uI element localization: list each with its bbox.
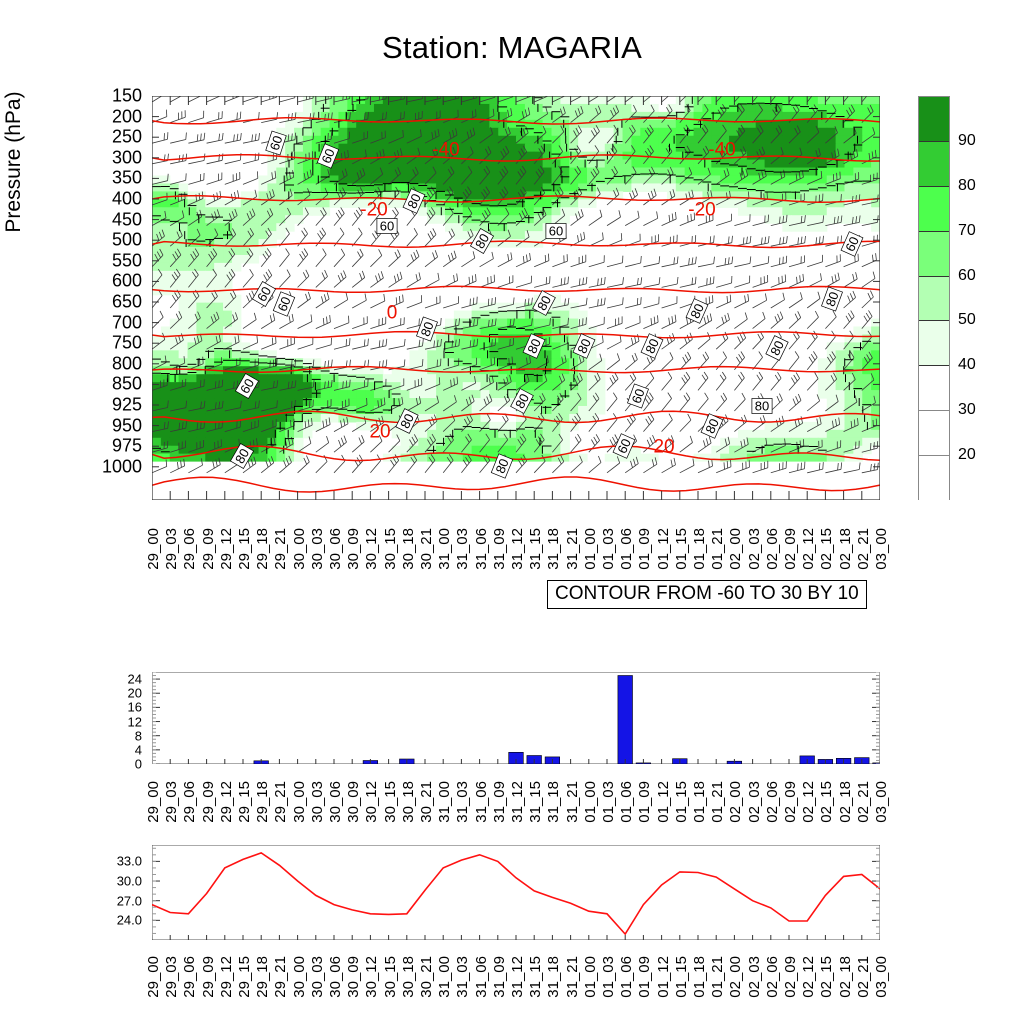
rain-xtick: 29_09 — [200, 781, 217, 823]
main-xtick: 30_06 — [327, 528, 344, 570]
main-yaxis-ticks: 1502002503003504004505005506006507007508… — [78, 96, 142, 500]
main-ytick: 500 — [80, 230, 142, 251]
main-xtick: 01_18 — [691, 528, 708, 570]
rain-yaxis-ticks: 04812162024 — [100, 672, 142, 764]
rain-xtick: 02_06 — [764, 781, 781, 823]
temp-xtick: 29_00 — [145, 956, 162, 998]
temp-xtick: 31_03 — [454, 956, 471, 998]
main-ytick: 200 — [80, 106, 142, 127]
rain-xtick: 29_03 — [163, 781, 180, 823]
rain-xtick: 03_00 — [873, 781, 890, 823]
main-xtick: 02_12 — [800, 528, 817, 570]
temp-xtick: 02_12 — [800, 956, 817, 998]
colorbar-band — [919, 142, 949, 187]
rain-xtick: 02_00 — [727, 781, 744, 823]
main-ytick: 700 — [80, 312, 142, 333]
temp-xtick: 02_15 — [818, 956, 835, 998]
colorbar-band — [919, 321, 949, 366]
temp-yaxis-ticks: 24.027.030.033.0 — [92, 845, 142, 940]
rain-xtick: 01_15 — [673, 781, 690, 823]
main-xtick: 29_00 — [145, 528, 162, 570]
main-ytick: 550 — [80, 250, 142, 271]
colorbar-tick-label: 70 — [958, 222, 976, 240]
main-xtick: 01_06 — [618, 528, 635, 570]
temp-xtick: 02_18 — [837, 956, 854, 998]
main-xtick: 30_03 — [309, 528, 326, 570]
main-xtick: 02_18 — [837, 528, 854, 570]
main-ytick: 400 — [80, 189, 142, 210]
temp-xtick: 02_03 — [746, 956, 763, 998]
page-title: Station: MAGARIA — [0, 30, 1024, 66]
contour-plot[interactable]: -40-40-20-200020206080606060808060808080… — [152, 96, 880, 500]
rain-xtick: 30_12 — [363, 781, 380, 823]
main-ytick: 950 — [80, 415, 142, 436]
temp-xtick: 02_21 — [855, 956, 872, 998]
main-xtick: 01_21 — [709, 528, 726, 570]
temp-ytick: 33.0 — [94, 854, 142, 869]
rain-xtick: 31_18 — [545, 781, 562, 823]
rain-xtick: 30_00 — [291, 781, 308, 823]
temp-xtick: 31_06 — [473, 956, 490, 998]
main-xtick: 30_00 — [291, 528, 308, 570]
rain-xtick: 30_03 — [309, 781, 326, 823]
rain-xtick: 31_03 — [454, 781, 471, 823]
colorbar-band — [919, 277, 949, 322]
temp-xtick: 02_06 — [764, 956, 781, 998]
temp-xtick: 29_18 — [254, 956, 271, 998]
colorbar-tick-label: 80 — [958, 177, 976, 195]
rain-xtick: 01_21 — [709, 781, 726, 823]
rain-xaxis-ticks: 29_0029_0329_0629_0929_1229_1529_1829_21… — [152, 775, 880, 837]
rain-xtick: 02_09 — [782, 781, 799, 823]
rain-xtick: 01_00 — [582, 781, 599, 823]
colorbar-band — [919, 456, 949, 501]
temp-xtick: 01_06 — [618, 956, 635, 998]
main-xtick: 29_06 — [181, 528, 198, 570]
rain-xtick: 02_18 — [837, 781, 854, 823]
contour-plot-svg: -40-40-20-200020206080606060808060808080… — [152, 96, 880, 500]
main-ytick: 850 — [80, 374, 142, 395]
colorbar-tick-label: 90 — [958, 132, 976, 150]
main-ytick: 975 — [80, 436, 142, 457]
rain-xtick: 02_03 — [746, 781, 763, 823]
main-xtick: 31_18 — [545, 528, 562, 570]
rain-xtick: 01_03 — [600, 781, 617, 823]
colorbar-band — [919, 187, 949, 232]
main-xtick: 30_18 — [400, 528, 417, 570]
main-xtick: 01_03 — [600, 528, 617, 570]
rain-xtick: 30_21 — [418, 781, 435, 823]
colorbar-band — [919, 97, 949, 142]
rain-ytick: 16 — [102, 700, 142, 715]
rain-xtick: 29_00 — [145, 781, 162, 823]
temp-xtick: 01_03 — [600, 956, 617, 998]
temp-xtick: 01_09 — [636, 956, 653, 998]
rain-xtick: 02_21 — [855, 781, 872, 823]
rain-ytick: 24 — [102, 672, 142, 687]
rain-xtick: 29_21 — [272, 781, 289, 823]
temp-xtick: 30_06 — [327, 956, 344, 998]
rain-xtick: 01_12 — [655, 781, 672, 823]
rain-ytick: 8 — [102, 728, 142, 743]
temp-ytick: 30.0 — [94, 874, 142, 889]
temp-xtick: 30_15 — [382, 956, 399, 998]
main-ytick: 750 — [80, 333, 142, 354]
rain-xtick: 29_15 — [236, 781, 253, 823]
colorbar-band — [919, 411, 949, 456]
temp-xtick: 29_21 — [272, 956, 289, 998]
colorbar[interactable] — [918, 96, 950, 500]
main-xtick: 30_12 — [363, 528, 380, 570]
colorbar-tick-label: 40 — [958, 356, 976, 374]
temp-xtick: 31_15 — [527, 956, 544, 998]
temp-xtick: 01_00 — [582, 956, 599, 998]
temp-xtick: 29_12 — [218, 956, 235, 998]
temp-xaxis-ticks: 29_0029_0329_0629_0929_1229_1529_1829_21… — [152, 950, 880, 1012]
temp-ytick: 27.0 — [94, 893, 142, 908]
main-xtick: 31_03 — [454, 528, 471, 570]
colorbar-tick-label: 30 — [958, 401, 976, 419]
main-xtick: 29_12 — [218, 528, 235, 570]
main-ytick: 350 — [80, 168, 142, 189]
temp-xtick: 03_00 — [873, 956, 890, 998]
temp-xtick: 30_00 — [291, 956, 308, 998]
main-xtick: 02_00 — [727, 528, 744, 570]
main-xtick: 29_21 — [272, 528, 289, 570]
rain-xtick: 29_12 — [218, 781, 235, 823]
rain-ytick: 20 — [102, 686, 142, 701]
main-ytick: 650 — [80, 292, 142, 313]
temp-xtick: 31_00 — [436, 956, 453, 998]
rain-plot[interactable] — [152, 672, 880, 764]
temp-xtick: 01_15 — [673, 956, 690, 998]
main-xtick: 01_15 — [673, 528, 690, 570]
main-xtick: 02_21 — [855, 528, 872, 570]
main-xtick: 30_15 — [382, 528, 399, 570]
temp-xtick: 01_18 — [691, 956, 708, 998]
temp-xtick: 29_06 — [181, 956, 198, 998]
temp-xtick: 01_21 — [709, 956, 726, 998]
temp-xtick: 31_21 — [564, 956, 581, 998]
main-xaxis-ticks: 29_0029_0329_0629_0929_1229_1529_1829_21… — [152, 522, 880, 584]
main-xtick: 29_09 — [200, 528, 217, 570]
temp-plot[interactable] — [152, 845, 880, 940]
temp-ytick: 24.0 — [94, 913, 142, 928]
main-xtick: 01_00 — [582, 528, 599, 570]
main-xtick: 01_12 — [655, 528, 672, 570]
main-xtick: 31_21 — [564, 528, 581, 570]
main-ytick: 250 — [80, 127, 142, 148]
main-ytick: 925 — [80, 395, 142, 416]
temp-xtick: 30_12 — [363, 956, 380, 998]
temp-xtick: 01_12 — [655, 956, 672, 998]
temp-xtick: 30_09 — [345, 956, 362, 998]
main-xtick: 29_03 — [163, 528, 180, 570]
main-ytick: 150 — [80, 86, 142, 107]
rain-xtick: 02_15 — [818, 781, 835, 823]
main-yaxis-label: Pressure (hPa) — [2, 52, 26, 272]
rain-xtick: 01_06 — [618, 781, 635, 823]
main-xtick: 31_15 — [527, 528, 544, 570]
main-ytick: 450 — [80, 209, 142, 230]
rain-xtick: 31_12 — [509, 781, 526, 823]
colorbar-tick-label: 20 — [958, 446, 976, 464]
rain-xtick: 30_18 — [400, 781, 417, 823]
temp-xtick: 30_18 — [400, 956, 417, 998]
main-xtick: 30_09 — [345, 528, 362, 570]
main-ytick: 1000 — [80, 456, 142, 477]
main-xtick: 31_12 — [509, 528, 526, 570]
rain-xtick: 30_15 — [382, 781, 399, 823]
temp-xtick: 29_09 — [200, 956, 217, 998]
rain-plot-svg — [152, 672, 880, 764]
temp-xtick: 30_21 — [418, 956, 435, 998]
colorbar-band — [919, 232, 949, 277]
rain-xtick: 29_06 — [181, 781, 198, 823]
main-xtick: 31_06 — [473, 528, 490, 570]
rain-xtick: 31_15 — [527, 781, 544, 823]
main-xtick: 02_15 — [818, 528, 835, 570]
rain-xtick: 29_18 — [254, 781, 271, 823]
main-xtick: 29_18 — [254, 528, 271, 570]
rain-xtick: 31_21 — [564, 781, 581, 823]
temp-xtick: 02_09 — [782, 956, 799, 998]
temp-xtick: 31_18 — [545, 956, 562, 998]
rain-xtick: 01_09 — [636, 781, 653, 823]
main-xtick: 02_06 — [764, 528, 781, 570]
main-xtick: 01_09 — [636, 528, 653, 570]
rain-xtick: 01_18 — [691, 781, 708, 823]
main-xtick: 02_09 — [782, 528, 799, 570]
main-xtick: 29_15 — [236, 528, 253, 570]
temp-xtick: 29_03 — [163, 956, 180, 998]
temp-xtick: 29_15 — [236, 956, 253, 998]
temp-xtick: 30_03 — [309, 956, 326, 998]
main-xtick: 31_09 — [491, 528, 508, 570]
rain-xtick: 31_06 — [473, 781, 490, 823]
rain-ytick: 12 — [102, 714, 142, 729]
main-ytick: 800 — [80, 353, 142, 374]
main-xtick: 31_00 — [436, 528, 453, 570]
rain-xtick: 31_00 — [436, 781, 453, 823]
contour-note: CONTOUR FROM -60 TO 30 BY 10 — [547, 580, 867, 609]
main-xtick: 03_00 — [873, 528, 890, 570]
main-xtick: 30_21 — [418, 528, 435, 570]
colorbar-tick-label: 60 — [958, 267, 976, 285]
temp-plot-svg — [152, 845, 880, 940]
colorbar-tick-label: 50 — [958, 311, 976, 329]
rain-xtick: 31_09 — [491, 781, 508, 823]
main-ytick: 300 — [80, 147, 142, 168]
meteogram-page: Station: MAGARIA 15020025030035040045050… — [0, 0, 1024, 1024]
rain-ytick: 0 — [102, 757, 142, 772]
rain-xtick: 30_06 — [327, 781, 344, 823]
colorbar-band — [919, 366, 949, 411]
temp-xtick: 31_09 — [491, 956, 508, 998]
rain-xtick: 30_09 — [345, 781, 362, 823]
main-ytick: 600 — [80, 271, 142, 292]
main-xtick: 02_03 — [746, 528, 763, 570]
temp-xtick: 02_00 — [727, 956, 744, 998]
rain-ytick: 4 — [102, 742, 142, 757]
temp-xtick: 31_12 — [509, 956, 526, 998]
rain-xtick: 02_12 — [800, 781, 817, 823]
